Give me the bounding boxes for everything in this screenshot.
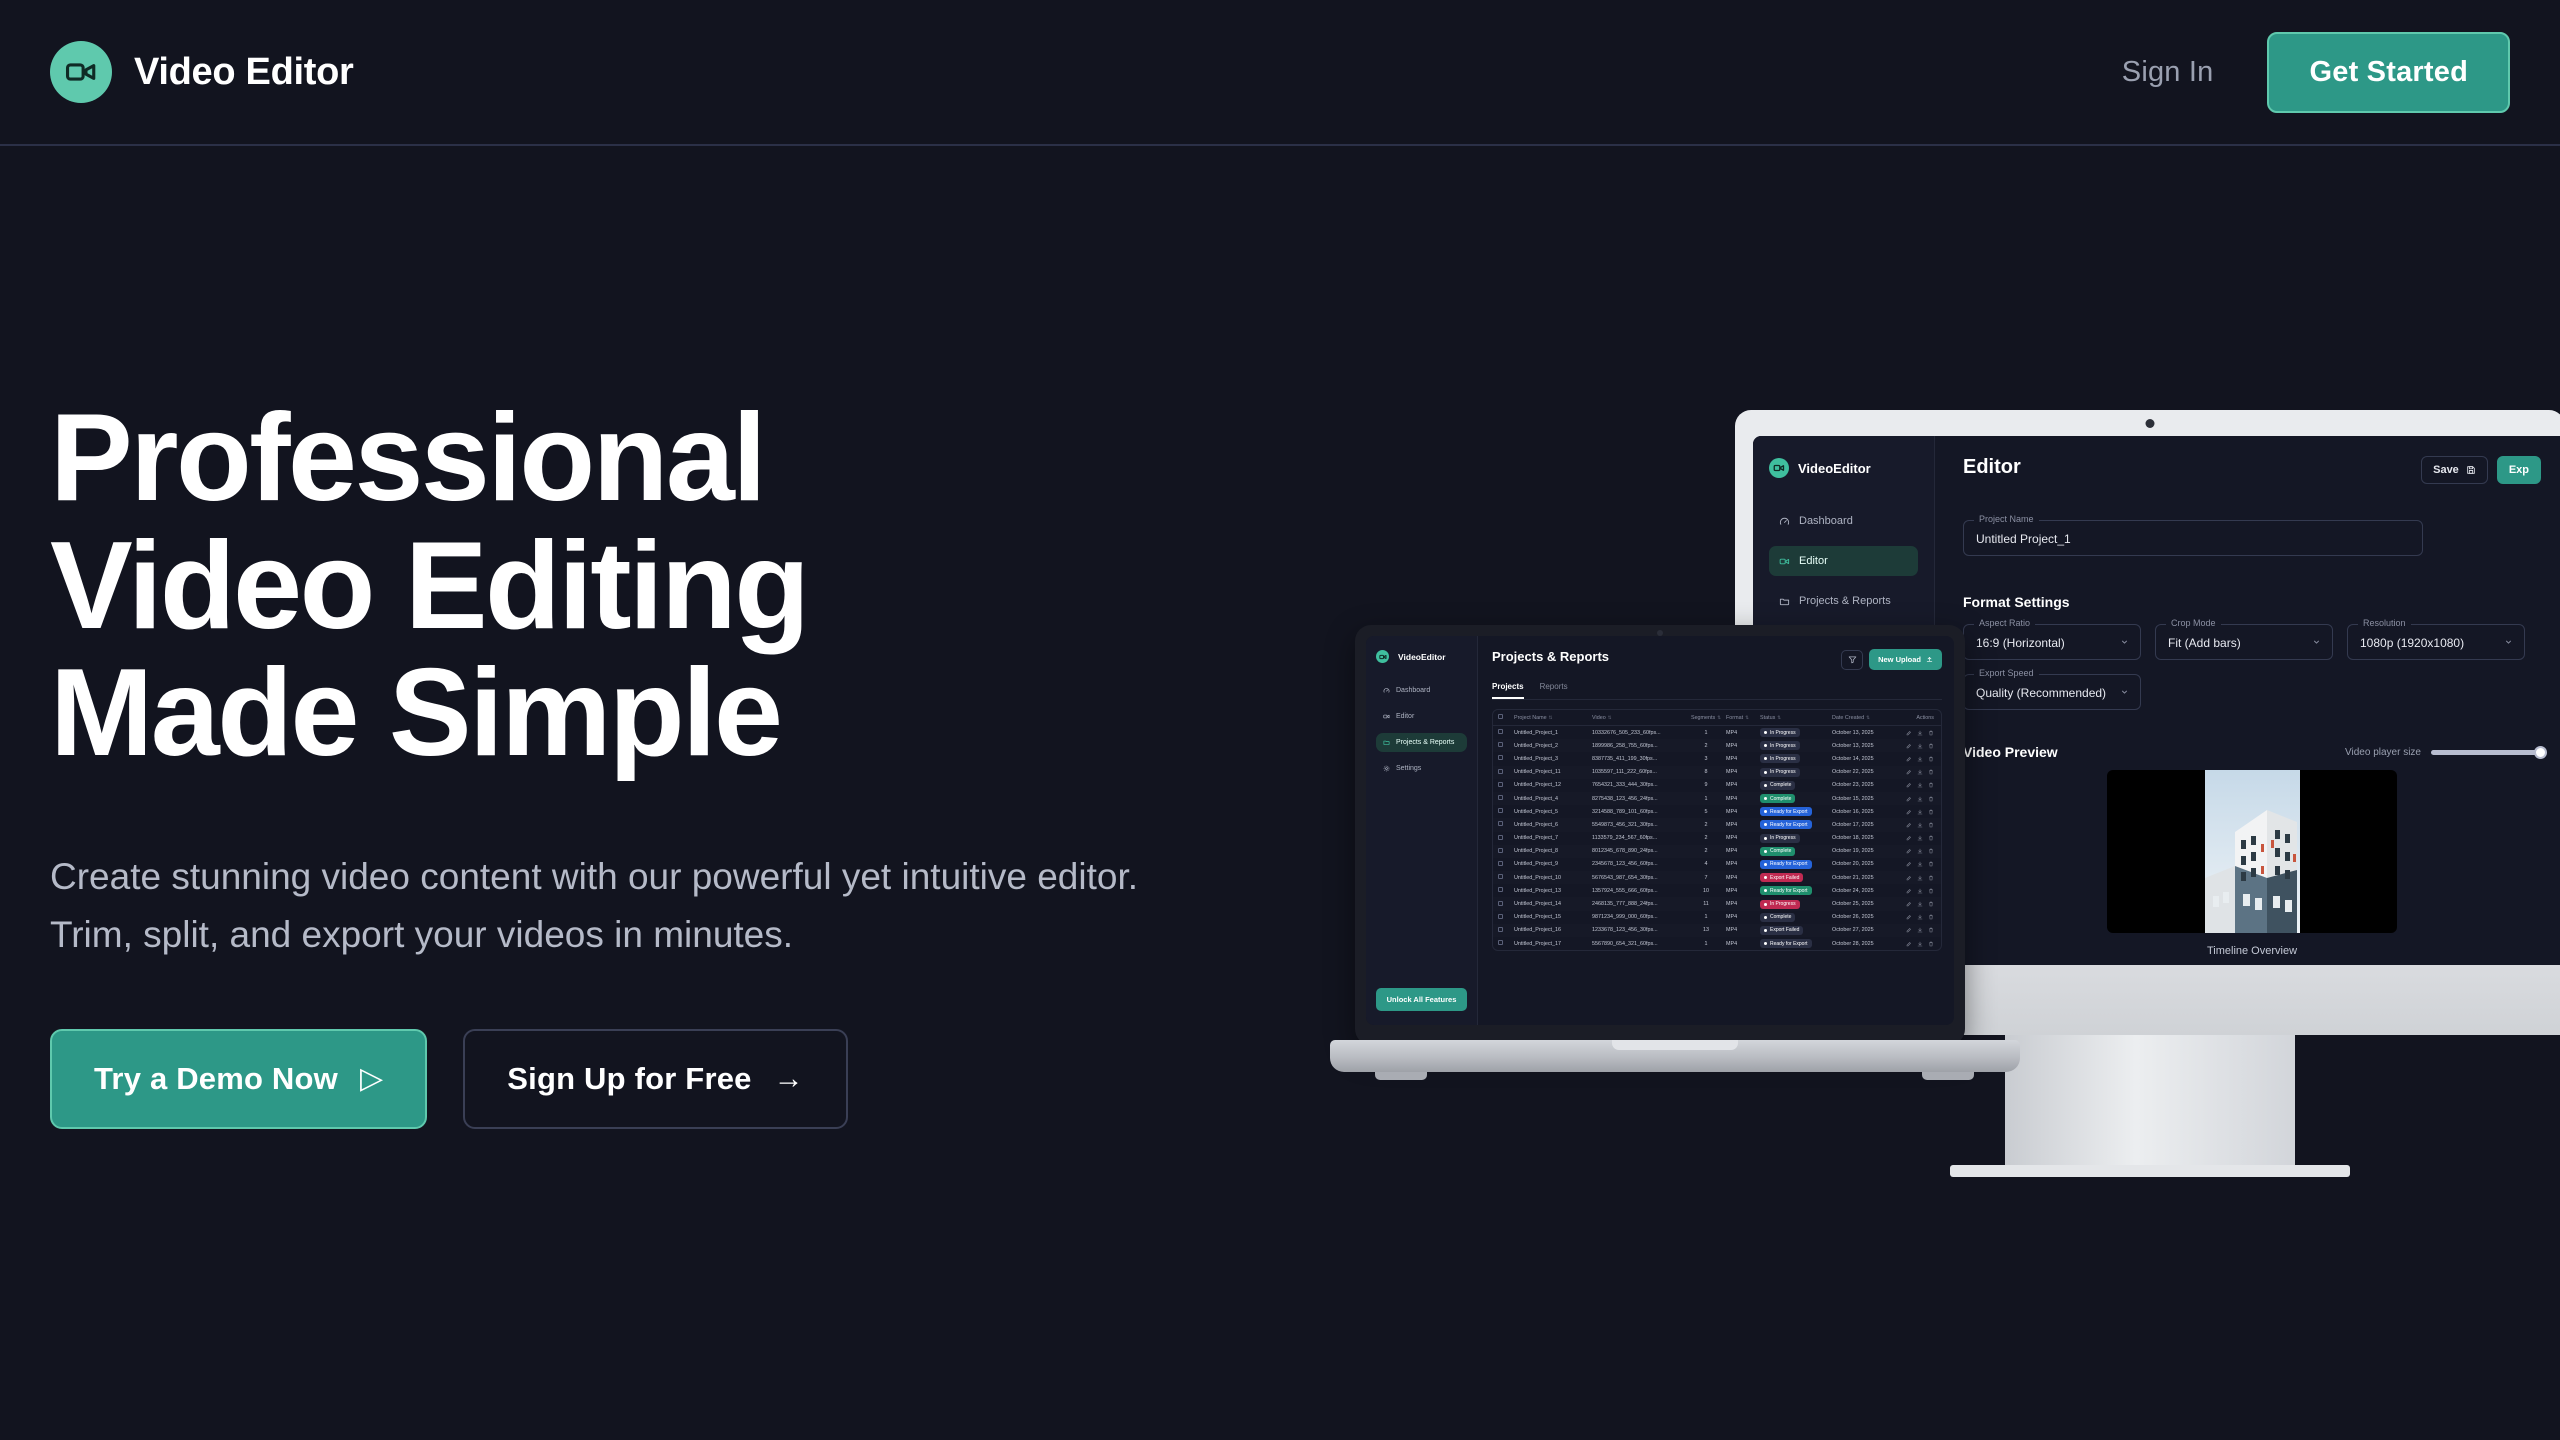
cell-actions: [1894, 743, 1934, 749]
sign-up-free-button[interactable]: Sign Up for Free →: [463, 1029, 848, 1129]
download-icon[interactable]: [1917, 796, 1923, 802]
row-checkbox[interactable]: [1498, 914, 1514, 921]
app-brand: VideoEditor: [1769, 458, 1918, 478]
cell-actions: [1894, 756, 1934, 762]
cell-date-created: October 21, 2025: [1832, 875, 1894, 881]
cell-status: In Progress: [1760, 741, 1832, 750]
brand-name: Video Editor: [134, 51, 354, 94]
cell-format: MP4: [1726, 888, 1760, 894]
download-icon[interactable]: [1917, 848, 1923, 854]
cell-segments: 3: [1686, 756, 1726, 762]
checkbox-icon: [1498, 769, 1503, 774]
download-icon[interactable]: [1917, 782, 1923, 788]
new-upload-button[interactable]: New Upload: [1869, 649, 1942, 670]
device-mockups: VideoEditor Dashboard Edi: [1330, 390, 2560, 1290]
trash-icon[interactable]: [1928, 809, 1934, 815]
gauge-icon: [1779, 516, 1790, 527]
cell-project-name: Untitled_Project_15: [1514, 914, 1592, 920]
trash-icon[interactable]: [1928, 756, 1934, 762]
column-date-created[interactable]: Date Created⇅: [1832, 715, 1894, 721]
edit-icon[interactable]: [1906, 888, 1912, 894]
cell-status: In Progress: [1760, 768, 1832, 777]
cell-status: Complete: [1760, 794, 1832, 803]
edit-icon[interactable]: [1906, 769, 1912, 775]
status-badge: Ready for Export: [1760, 939, 1812, 948]
download-icon[interactable]: [1917, 914, 1923, 920]
status-badge: In Progress: [1760, 834, 1800, 843]
resolution-select[interactable]: Resolution 1080p (1920x1080): [2347, 624, 2525, 660]
cell-actions: [1894, 730, 1934, 736]
status-label: Complete: [1770, 782, 1791, 788]
download-icon[interactable]: [1917, 730, 1923, 736]
status-label: Ready for Export: [1770, 941, 1808, 947]
edit-icon[interactable]: [1906, 941, 1912, 947]
row-checkbox[interactable]: [1498, 887, 1514, 894]
table-row[interactable]: Untitled_Project_127654321_333_444_30fps…: [1493, 779, 1941, 792]
status-label: In Progress: [1770, 835, 1796, 841]
table-row[interactable]: Untitled_Project_21899986_258_755_60fps.…: [1493, 739, 1941, 752]
sidebar-item-settings[interactable]: Settings: [1376, 759, 1467, 778]
hero-section: Professional Video Editing Made Simple C…: [50, 395, 1170, 1129]
cell-date-created: October 26, 2025: [1832, 914, 1894, 920]
cell-project-name: Untitled_Project_10: [1514, 875, 1592, 881]
sidebar-item-projects-reports[interactable]: Projects & Reports: [1376, 733, 1467, 752]
checkbox-icon: [1498, 795, 1503, 800]
cell-actions: [1894, 888, 1934, 894]
cell-project-name: Untitled_Project_5: [1514, 809, 1592, 815]
row-checkbox[interactable]: [1498, 729, 1514, 736]
download-icon[interactable]: [1917, 822, 1923, 828]
sort-icon: ⇅: [1777, 715, 1781, 720]
cell-format: MP4: [1726, 848, 1760, 854]
headline-line-2: Video Editing: [50, 517, 807, 655]
site-header: Video Editor Sign In Get Started: [0, 0, 2560, 146]
sidebar-item-projects-reports[interactable]: Projects & Reports: [1769, 586, 1918, 616]
sidebar-item-label: Dashboard: [1396, 687, 1430, 694]
status-dot-icon: [1764, 797, 1767, 800]
sign-up-free-label: Sign Up for Free: [507, 1061, 751, 1097]
trash-icon[interactable]: [1928, 901, 1934, 907]
table-row[interactable]: Untitled_Project_53214588_789_101_60fps.…: [1493, 805, 1941, 818]
download-icon[interactable]: [1917, 769, 1923, 775]
trash-icon[interactable]: [1928, 848, 1934, 854]
cell-status: Export Failed: [1760, 873, 1832, 882]
editor-page-title: Editor: [1963, 456, 2021, 479]
row-checkbox[interactable]: [1498, 874, 1514, 881]
laptop-notch: [1612, 1040, 1738, 1050]
column-actions: Actions: [1894, 715, 1934, 721]
cell-format: MP4: [1726, 875, 1760, 881]
status-label: In Progress: [1770, 756, 1796, 762]
row-checkbox[interactable]: [1498, 848, 1514, 855]
cell-project-name: Untitled_Project_8: [1514, 848, 1592, 854]
video-camera-icon: [1769, 458, 1789, 478]
column-format[interactable]: Format⇅: [1726, 715, 1760, 721]
trash-icon[interactable]: [1928, 914, 1934, 920]
status-label: Complete: [1770, 848, 1791, 854]
cell-format: MP4: [1726, 769, 1760, 775]
column-status[interactable]: Status⇅: [1760, 715, 1832, 721]
row-checkbox[interactable]: [1498, 927, 1514, 934]
checkbox-icon: [1498, 821, 1503, 826]
download-icon[interactable]: [1917, 756, 1923, 762]
trash-icon[interactable]: [1928, 888, 1934, 894]
cell-segments: 10: [1686, 888, 1726, 894]
cell-video: 8275438_123_456_24fps...: [1592, 796, 1686, 802]
edit-icon[interactable]: [1906, 822, 1912, 828]
status-dot-icon: [1764, 916, 1767, 919]
try-demo-button[interactable]: Try a Demo Now ▷: [50, 1029, 427, 1129]
player-size-label: Video player size: [2345, 747, 2421, 758]
edit-icon[interactable]: [1906, 782, 1912, 788]
project-name-label: Project Name: [1974, 514, 2039, 524]
video-camera-icon: [50, 41, 112, 103]
table-row[interactable]: Untitled_Project_65549873_456_321_30fps.…: [1493, 818, 1941, 831]
row-checkbox[interactable]: [1498, 795, 1514, 802]
status-label: In Progress: [1770, 730, 1796, 736]
player-size-control[interactable]: Video player size: [2345, 747, 2541, 758]
format-settings-grid: Aspect Ratio 16:9 (Horizontal) Crop Mode…: [1963, 624, 2541, 710]
cell-status: Complete: [1760, 913, 1832, 922]
editor-topbar-actions: Save Exp: [2421, 456, 2541, 484]
table-row[interactable]: Untitled_Project_88012345_678_890_24fps.…: [1493, 845, 1941, 858]
download-icon[interactable]: [1917, 809, 1923, 815]
sort-icon: ⇅: [1608, 715, 1612, 720]
edit-icon[interactable]: [1906, 901, 1912, 907]
edit-icon[interactable]: [1906, 927, 1912, 933]
column-video[interactable]: Video⇅: [1592, 715, 1686, 721]
cell-video: 10332676_505_233_60fps...: [1592, 730, 1686, 736]
page-title: Professional Video Editing Made Simple: [50, 395, 1170, 778]
edit-icon[interactable]: [1906, 914, 1912, 920]
row-checkbox[interactable]: [1498, 821, 1514, 828]
sidebar-item-editor[interactable]: Editor: [1769, 546, 1918, 576]
cell-segments: 11: [1686, 901, 1726, 907]
filter-funnel-icon[interactable]: [1841, 650, 1863, 670]
cell-date-created: October 28, 2025: [1832, 941, 1894, 947]
chevron-down-icon: [2312, 638, 2321, 647]
editor-topbar: Editor Save Exp: [1963, 456, 2541, 484]
video-camera-icon: [1376, 650, 1389, 663]
video-thumbnail-building: [2205, 770, 2300, 933]
checkbox-icon: [1498, 874, 1503, 879]
cell-segments: 2: [1686, 743, 1726, 749]
trash-icon[interactable]: [1928, 861, 1934, 867]
status-label: In Progress: [1770, 901, 1796, 907]
status-badge: In Progress: [1760, 768, 1800, 777]
status-label: In Progress: [1770, 769, 1796, 775]
status-badge: Complete: [1760, 847, 1795, 856]
status-badge: Ready for Export: [1760, 860, 1812, 869]
cell-date-created: October 18, 2025: [1832, 835, 1894, 841]
sort-icon: ⇅: [1549, 715, 1553, 720]
row-checkbox[interactable]: [1498, 901, 1514, 908]
table-row[interactable]: Untitled_Project_110332676_505_233_60fps…: [1493, 726, 1941, 739]
status-dot-icon: [1764, 837, 1767, 840]
status-dot-icon: [1764, 889, 1767, 892]
cell-date-created: October 22, 2025: [1832, 769, 1894, 775]
download-icon[interactable]: [1917, 901, 1923, 907]
row-checkbox[interactable]: [1498, 755, 1514, 762]
cell-status: In Progress: [1760, 754, 1832, 763]
editor-main: Editor Save Exp: [1935, 436, 2560, 965]
table-row[interactable]: Untitled_Project_161233678_123_456_30fps…: [1493, 924, 1941, 937]
row-checkbox[interactable]: [1498, 782, 1514, 789]
cell-segments: 1: [1686, 941, 1726, 947]
cell-actions: [1894, 809, 1934, 815]
download-icon[interactable]: [1917, 861, 1923, 867]
monitor-camera-dot: [2146, 419, 2155, 428]
status-dot-icon: [1764, 784, 1767, 787]
status-dot-icon: [1764, 903, 1767, 906]
status-badge: Complete: [1760, 913, 1795, 922]
edit-icon[interactable]: [1906, 756, 1912, 762]
sidebar-item-label: Projects & Reports: [1799, 595, 1891, 607]
laptop-foot-left: [1375, 1072, 1427, 1080]
column-project-name[interactable]: Project Name⇅: [1514, 715, 1592, 721]
cell-project-name: Untitled_Project_1: [1514, 730, 1592, 736]
edit-icon[interactable]: [1906, 796, 1912, 802]
project-name-field[interactable]: Project Name Untitled Project_1: [1963, 520, 2423, 556]
gear-icon: [1383, 765, 1390, 772]
cell-project-name: Untitled_Project_12: [1514, 782, 1592, 788]
sidebar-item-label: Dashboard: [1799, 515, 1853, 527]
cell-project-name: Untitled_Project_2: [1514, 743, 1592, 749]
table-row[interactable]: Untitled_Project_159871234_999_000_60fps…: [1493, 911, 1941, 924]
play-triangle-icon: ▷: [360, 1064, 383, 1094]
cell-date-created: October 19, 2025: [1832, 848, 1894, 854]
project-name-value: Untitled Project_1: [1976, 532, 2410, 546]
cell-status: Complete: [1760, 781, 1832, 790]
table-row[interactable]: Untitled_Project_175567890_654_321_60fps…: [1493, 937, 1941, 950]
cell-segments: 13: [1686, 927, 1726, 933]
projects-sidebar: VideoEditor Dashboard Editor: [1366, 636, 1478, 1025]
cell-date-created: October 17, 2025: [1832, 822, 1894, 828]
status-label: Complete: [1770, 914, 1791, 920]
cell-video: 5567890_654_321_60fps...: [1592, 941, 1686, 947]
table-row[interactable]: Untitled_Project_131357924_555_666_60fps…: [1493, 884, 1941, 897]
status-badge: Complete: [1760, 794, 1795, 803]
edit-icon[interactable]: [1906, 743, 1912, 749]
cell-date-created: October 15, 2025: [1832, 796, 1894, 802]
cell-video: 5549873_456_321_30fps...: [1592, 822, 1686, 828]
sidebar-item-dashboard[interactable]: Dashboard: [1769, 506, 1918, 536]
crop-mode-select[interactable]: Crop Mode Fit (Add bars): [2155, 624, 2333, 660]
trash-icon[interactable]: [1928, 743, 1934, 749]
row-checkbox[interactable]: [1498, 835, 1514, 842]
table-row[interactable]: Untitled_Project_48275438_123_456_24fps.…: [1493, 792, 1941, 805]
trash-icon[interactable]: [1928, 927, 1934, 933]
cell-segments: 2: [1686, 835, 1726, 841]
trash-icon[interactable]: [1928, 796, 1934, 802]
edit-icon[interactable]: [1906, 861, 1912, 867]
tab-projects[interactable]: Projects: [1492, 682, 1524, 699]
save-disk-icon: [2466, 465, 2476, 475]
cell-segments: 4: [1686, 861, 1726, 867]
trash-icon[interactable]: [1928, 822, 1934, 828]
projects-app: VideoEditor Dashboard Editor: [1366, 636, 1954, 1025]
arrow-right-icon: →: [774, 1064, 804, 1094]
cell-video: 5676543_987_654_30fps...: [1592, 875, 1686, 881]
upload-icon: [1926, 656, 1933, 663]
landing-page: Video Editor Sign In Get Started Profess…: [0, 0, 2560, 1440]
table-body: Untitled_Project_110332676_505_233_60fps…: [1493, 726, 1941, 950]
row-checkbox[interactable]: [1498, 940, 1514, 947]
status-dot-icon: [1764, 863, 1767, 866]
status-label: Ready for Export: [1770, 861, 1808, 867]
status-label: Export Failed: [1770, 927, 1799, 933]
laptop-mockup: VideoEditor Dashboard Editor: [1330, 625, 2020, 1120]
cell-video: 2345678_123_456_60fps...: [1592, 861, 1686, 867]
checkbox-icon: [1498, 927, 1503, 932]
cell-project-name: Untitled_Project_16: [1514, 927, 1592, 933]
sidebar-item-editor[interactable]: Editor: [1376, 707, 1467, 726]
cell-video: 8387735_411_199_30fps...: [1592, 756, 1686, 762]
checkbox-icon: [1498, 848, 1503, 853]
row-checkbox[interactable]: [1498, 861, 1514, 868]
cell-format: MP4: [1726, 809, 1760, 815]
projects-table: Project Name⇅ Video⇅ Segments⇅ Format⇅ S…: [1492, 709, 1942, 951]
folder-icon: [1779, 596, 1790, 607]
cell-date-created: October 24, 2025: [1832, 888, 1894, 894]
cell-actions: [1894, 782, 1934, 788]
download-icon[interactable]: [1917, 941, 1923, 947]
cell-date-created: October 23, 2025: [1832, 782, 1894, 788]
table-header-row: Project Name⇅ Video⇅ Segments⇅ Format⇅ S…: [1493, 710, 1941, 726]
monitor-foot: [1950, 1165, 2350, 1177]
cell-status: In Progress: [1760, 728, 1832, 737]
cell-video: 1035597_111_222_60fps...: [1592, 769, 1686, 775]
trash-icon[interactable]: [1928, 941, 1934, 947]
cell-video: 1357924_555_666_60fps...: [1592, 888, 1686, 894]
table-row[interactable]: Untitled_Project_38387735_411_199_30fps.…: [1493, 752, 1941, 765]
column-segments[interactable]: Segments⇅: [1686, 715, 1726, 721]
checkbox-icon: [1498, 755, 1503, 760]
status-dot-icon: [1764, 731, 1767, 734]
checkbox-icon: [1498, 914, 1503, 919]
checkbox-icon: [1498, 729, 1503, 734]
sidebar-item-label: Settings: [1396, 765, 1421, 772]
table-row[interactable]: Untitled_Project_71133579_234_567_60fps.…: [1493, 832, 1941, 845]
trash-icon[interactable]: [1928, 730, 1934, 736]
edit-icon[interactable]: [1906, 809, 1912, 815]
laptop-screen: VideoEditor Dashboard Editor: [1366, 636, 1954, 1025]
row-checkbox[interactable]: [1498, 769, 1514, 776]
video-camera-icon: [1383, 713, 1390, 720]
status-badge: In Progress: [1760, 728, 1800, 737]
row-checkbox[interactable]: [1498, 742, 1514, 749]
checkbox-icon: [1498, 887, 1503, 892]
status-label: Ready for Export: [1770, 809, 1808, 815]
download-icon[interactable]: [1917, 875, 1923, 881]
app-brand-name: VideoEditor: [1798, 461, 1871, 476]
get-started-button[interactable]: Get Started: [2267, 32, 2510, 113]
cell-format: MP4: [1726, 782, 1760, 788]
unlock-all-features-button[interactable]: Unlock All Features: [1376, 988, 1467, 1011]
checkbox-icon: [1498, 901, 1503, 906]
tab-reports[interactable]: Reports: [1540, 682, 1568, 699]
row-checkbox[interactable]: [1498, 808, 1514, 815]
save-button[interactable]: Save: [2421, 456, 2488, 484]
sort-icon: ⇅: [1717, 715, 1721, 720]
cell-actions: [1894, 927, 1934, 933]
cell-project-name: Untitled_Project_7: [1514, 835, 1592, 841]
status-badge: Export Failed: [1760, 873, 1803, 882]
headline-line-1: Professional: [50, 389, 764, 527]
status-dot-icon: [1764, 744, 1767, 747]
trash-icon[interactable]: [1928, 875, 1934, 881]
download-icon[interactable]: [1917, 743, 1923, 749]
cell-video: 1133579_234_567_60fps...: [1592, 835, 1686, 841]
video-letterbox: [2107, 770, 2397, 933]
cell-format: MP4: [1726, 796, 1760, 802]
cell-segments: 2: [1686, 848, 1726, 854]
cell-segments: 8: [1686, 769, 1726, 775]
select-all-checkbox[interactable]: [1498, 714, 1514, 721]
table-row[interactable]: Untitled_Project_142468135_777_888_24fps…: [1493, 897, 1941, 910]
cell-date-created: October 20, 2025: [1832, 861, 1894, 867]
gauge-icon: [1383, 687, 1390, 694]
cell-date-created: October 13, 2025: [1832, 730, 1894, 736]
trash-icon[interactable]: [1928, 835, 1934, 841]
status-badge: Ready for Export: [1760, 820, 1812, 829]
download-icon[interactable]: [1917, 927, 1923, 933]
try-demo-label: Try a Demo Now: [94, 1061, 338, 1097]
projects-main: Projects & Reports New Upload: [1478, 636, 1954, 1025]
timeline-overview-label: Timeline Overview: [2207, 945, 2297, 957]
checkbox-icon: [1498, 861, 1503, 866]
brand-logo-group[interactable]: Video Editor: [50, 41, 354, 103]
cell-status: Ready for Export: [1760, 807, 1832, 816]
cell-status: Ready for Export: [1760, 860, 1832, 869]
status-badge: Export Failed: [1760, 926, 1803, 935]
cell-status: Ready for Export: [1760, 820, 1832, 829]
table-row[interactable]: Untitled_Project_92345678_123_456_60fps.…: [1493, 858, 1941, 871]
table-row[interactable]: Untitled_Project_111035597_111_222_60fps…: [1493, 766, 1941, 779]
header-actions: Sign In Get Started: [2122, 32, 2510, 113]
cell-format: MP4: [1726, 941, 1760, 947]
sidebar-item-dashboard[interactable]: Dashboard: [1376, 681, 1467, 700]
video-preview-stage: Timeline Overview 2: [1963, 770, 2541, 965]
status-label: Export Failed: [1770, 875, 1799, 881]
cell-status: Complete: [1760, 847, 1832, 856]
cell-segments: 5: [1686, 809, 1726, 815]
status-label: Ready for Export: [1770, 822, 1808, 828]
trash-icon[interactable]: [1928, 769, 1934, 775]
projects-tabs: Projects Reports: [1492, 682, 1942, 700]
cell-segments: 1: [1686, 796, 1726, 802]
export-button[interactable]: Exp: [2497, 456, 2541, 484]
cell-status: Export Failed: [1760, 926, 1832, 935]
edit-icon[interactable]: [1906, 835, 1912, 841]
app-brand: VideoEditor: [1376, 650, 1467, 663]
edit-icon[interactable]: [1906, 848, 1912, 854]
cell-video: 2468135_777_888_24fps...: [1592, 901, 1686, 907]
sign-in-link[interactable]: Sign In: [2122, 56, 2214, 89]
download-icon[interactable]: [1917, 835, 1923, 841]
edit-icon[interactable]: [1906, 730, 1912, 736]
player-size-slider[interactable]: [2431, 750, 2541, 755]
cell-actions: [1894, 941, 1934, 947]
trash-icon[interactable]: [1928, 782, 1934, 788]
table-row[interactable]: Untitled_Project_105676543_987_654_30fps…: [1493, 871, 1941, 884]
edit-icon[interactable]: [1906, 875, 1912, 881]
slider-knob[interactable]: [2534, 746, 2547, 759]
download-icon[interactable]: [1917, 888, 1923, 894]
cell-segments: 1: [1686, 730, 1726, 736]
status-badge: Ready for Export: [1760, 807, 1812, 816]
cell-actions: [1894, 822, 1934, 828]
